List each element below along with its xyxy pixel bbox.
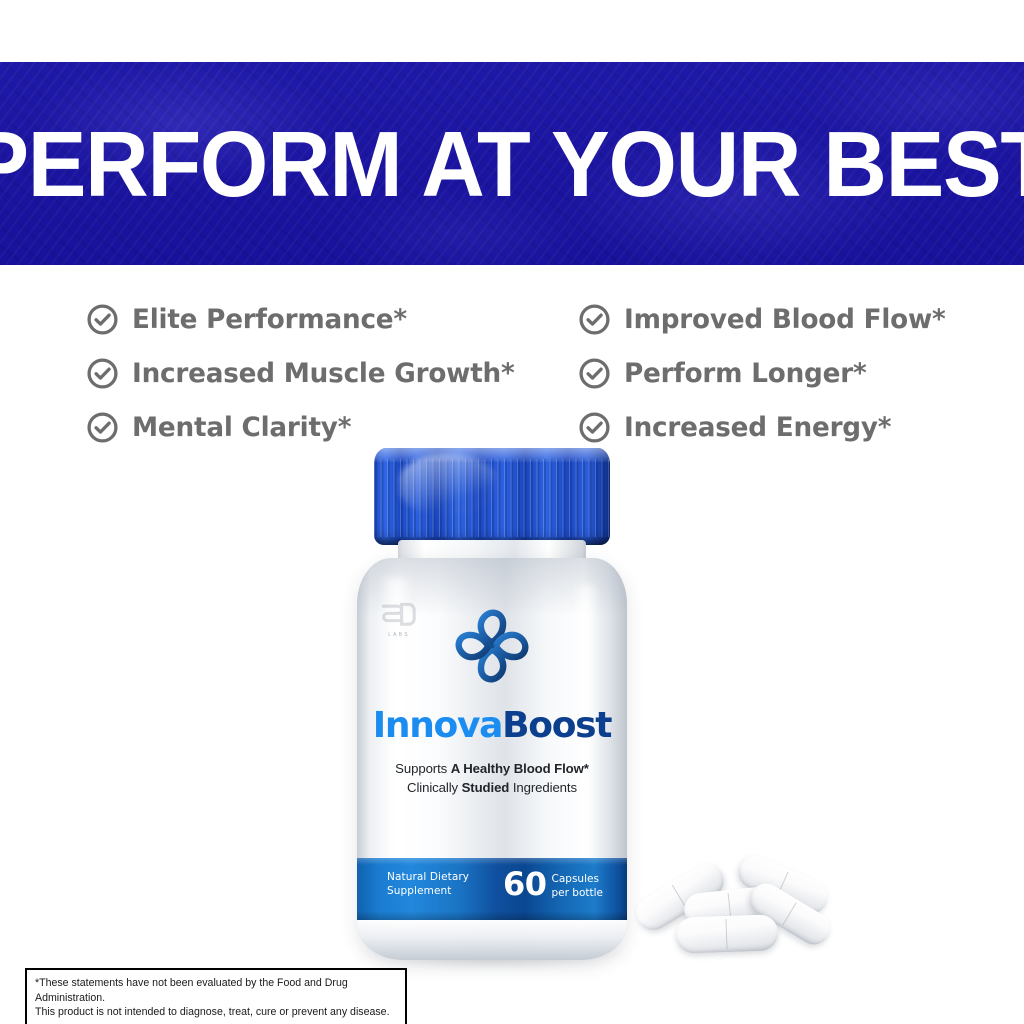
tagline-line1-bold: A Healthy Blood Flow* <box>451 761 589 776</box>
tagline-line2-bold: Studied <box>462 780 510 795</box>
benefits-list: Elite Performance* Improved Blood Flow* … <box>86 292 976 454</box>
page-title-text: PERFORM AT YOUR BEST <box>0 117 1024 210</box>
product-bottle: LABS Inno <box>352 448 632 964</box>
capsule-unit-line2: per bottle <box>552 886 603 900</box>
check-circle-icon <box>86 411 119 444</box>
label-tagline-line1: Supports A Healthy Blood Flow* <box>357 760 627 779</box>
benefit-item: Perform Longer* <box>578 346 976 400</box>
bottle-cap <box>374 448 610 545</box>
benefit-label: Elite Performance* <box>132 304 407 335</box>
tagline-line1-prefix: Supports <box>395 761 451 776</box>
benefit-item: Improved Blood Flow* <box>578 292 976 346</box>
check-circle-icon <box>86 357 119 390</box>
bottle-label: LABS Inno <box>357 558 627 960</box>
capsule-count-group: 60 Capsules per bottle <box>503 866 603 904</box>
capsule-pile <box>628 862 838 970</box>
cap-highlight <box>400 454 496 516</box>
brand-wordmark-part1: Innova <box>373 705 502 746</box>
check-circle-icon <box>578 357 611 390</box>
check-circle-icon <box>578 411 611 444</box>
label-blue-band: Natural Dietary Supplement 60 Capsules p… <box>357 858 627 920</box>
benefit-item: Elite Performance* <box>86 292 578 346</box>
benefit-item: Increased Muscle Growth* <box>86 346 578 400</box>
tagline-line2-prefix: Clinically <box>407 780 462 795</box>
supplement-type-text: Natural Dietary Supplement <box>387 870 469 898</box>
capsule-unit-line1: Capsules <box>552 872 603 886</box>
benefit-label: Perform Longer* <box>624 358 866 389</box>
check-circle-icon <box>578 303 611 336</box>
label-tagline: Supports A Healthy Blood Flow* Clinicall… <box>357 760 627 797</box>
bottle-base <box>357 920 627 960</box>
benefit-label: Improved Blood Flow* <box>624 304 946 335</box>
benefit-item: Mental Clarity* <box>86 400 578 454</box>
page-title: PERFORM AT YOUR BEST <box>0 122 1024 205</box>
supplement-type-line2: Supplement <box>387 884 469 898</box>
bottle-body: LABS Inno <box>357 558 627 960</box>
benefit-label: Mental Clarity* <box>132 412 351 443</box>
sd-labs-logo-text: LABS <box>381 632 417 638</box>
fda-disclaimer: *These statements have not been evaluate… <box>25 968 407 1024</box>
check-circle-icon <box>86 303 119 336</box>
tagline-line2-suffix: Ingredients <box>509 780 577 795</box>
header-banner: PERFORM AT YOUR BEST <box>0 62 1024 265</box>
benefit-item: Increased Energy* <box>578 400 976 454</box>
label-tagline-line2: Clinically Studied Ingredients <box>357 779 627 798</box>
brand-wordmark: InnovaBoost <box>357 708 627 744</box>
benefit-label: Increased Energy* <box>624 412 891 443</box>
disclaimer-line1: *These statements have not been evaluate… <box>35 976 397 1005</box>
sd-labs-logo-icon <box>380 600 416 634</box>
product-infographic: PERFORM AT YOUR BEST Elite Performance* … <box>0 0 1024 1024</box>
brand-wordmark-part2: Boost <box>502 705 611 746</box>
disclaimer-line2: This product is not intended to diagnose… <box>35 1005 397 1020</box>
capsule <box>675 914 778 954</box>
capsule-unit: Capsules per bottle <box>552 866 603 900</box>
capsule-count: 60 <box>503 866 547 904</box>
benefit-label: Increased Muscle Growth* <box>132 358 515 389</box>
cap-top-edge <box>374 448 610 462</box>
brand-clover-knot-icon <box>446 600 538 692</box>
supplement-type-line1: Natural Dietary <box>387 870 469 884</box>
